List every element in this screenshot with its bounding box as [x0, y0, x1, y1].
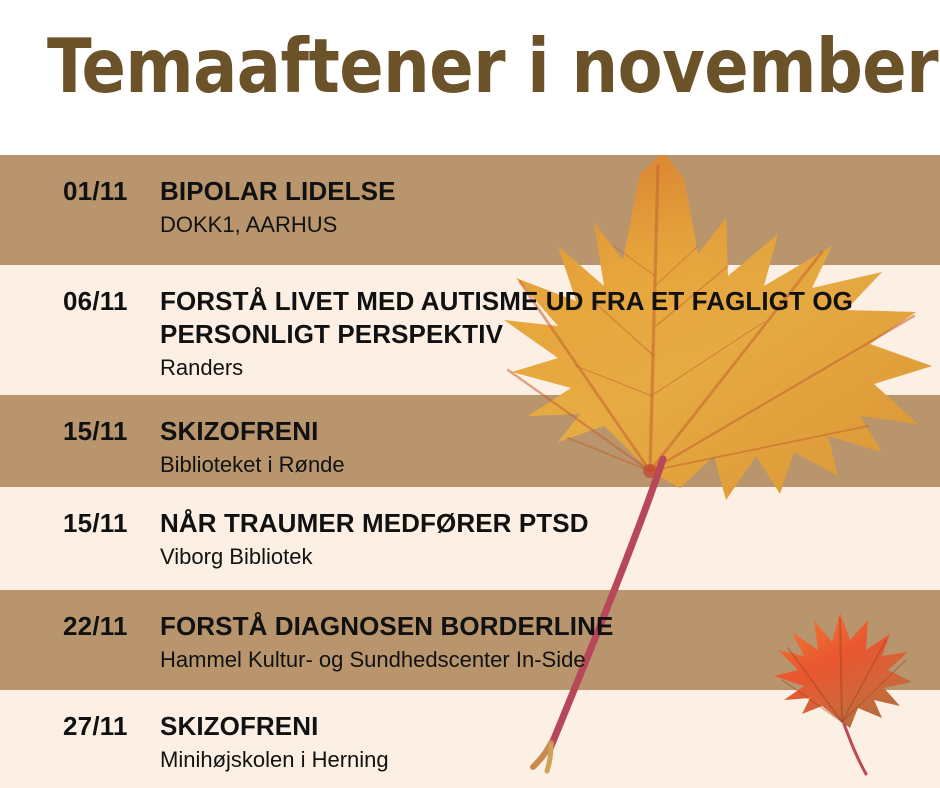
schedule-row	[0, 155, 940, 265]
schedule-bands	[0, 155, 940, 788]
schedule-row	[0, 395, 940, 487]
schedule-row	[0, 690, 940, 788]
poster-header: Temaaftener i november	[0, 0, 940, 155]
page-title: Temaaftener i november	[47, 23, 938, 109]
schedule-row	[0, 487, 940, 590]
poster-canvas: 01/11BIPOLAR LIDELSEDOKK1, AARHUS06/11FO…	[0, 0, 940, 788]
schedule-row	[0, 590, 940, 690]
schedule-row	[0, 265, 940, 395]
